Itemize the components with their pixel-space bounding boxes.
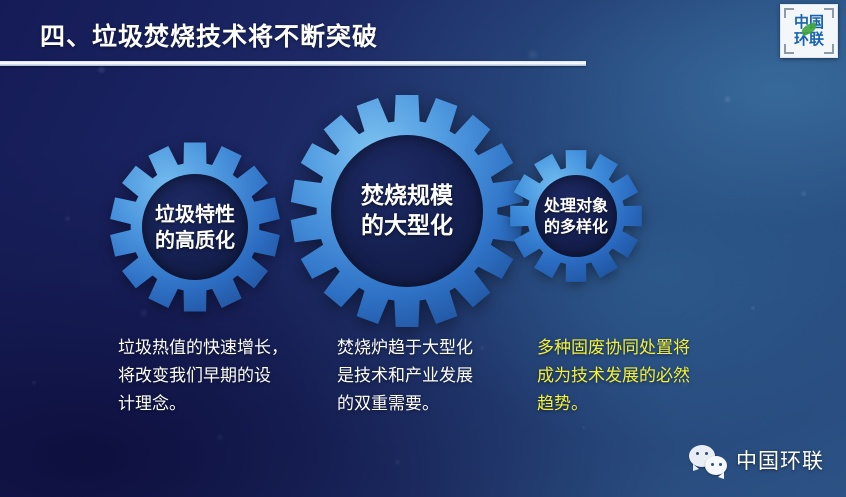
gear-scale: 焚烧规模 的大型化 (288, 92, 526, 330)
caption-diversity: 多种固废协同处置将 成为技术发展的必然 趋势。 (537, 334, 727, 418)
caption-scale-line2: 是技术和产业发展 (337, 362, 527, 390)
logo-corner-top-left (784, 8, 794, 18)
wechat-dot-3 (711, 463, 714, 466)
logo-corner-top-right (824, 8, 834, 18)
caption-quality: 垃圾热值的快速增长， 将改变我们早期的设 计理念。 (118, 334, 323, 418)
caption-diversity-line2: 成为技术发展的必然 (537, 362, 727, 390)
caption-quality-line3: 计理念。 (118, 390, 323, 418)
caption-quality-line2: 将改变我们早期的设 (118, 362, 323, 390)
caption-scale-line1: 焚烧炉趋于大型化 (337, 334, 527, 362)
logo-corner-bottom-right (824, 44, 834, 54)
gear-scale-label-line2: 的大型化 (361, 211, 453, 241)
logo-corner-bottom-left (784, 44, 794, 54)
wechat-bubble-small (705, 456, 727, 475)
gear-quality: 垃圾特性 的高质化 (108, 140, 282, 314)
caption-diversity-line3: 趋势。 (537, 390, 727, 418)
gear-diversity-label-line2: 的多样化 (544, 216, 608, 237)
caption-diversity-line1: 多种固废协同处置将 (537, 334, 727, 362)
gear-quality-label-line1: 垃圾特性 (155, 201, 235, 227)
wechat-account-name: 中国环联 (736, 445, 824, 475)
title-underline-rule (0, 61, 586, 66)
caption-scale-line3: 的双重需要。 (337, 390, 527, 418)
wechat-dot-2 (705, 452, 708, 455)
slide-canvas: 四、垃圾焚烧技术将不断突破 中国 环联 垃圾特性 的高质化 (0, 0, 846, 497)
wechat-watermark: 中国环联 (689, 445, 824, 475)
gear-diversity: 处理对象 的多样化 (508, 148, 644, 284)
gear-scale-hub: 焚烧规模 的大型化 (331, 135, 483, 287)
gear-diversity-label-line1: 处理对象 (544, 195, 608, 216)
brand-logo: 中国 环联 (780, 4, 838, 58)
caption-scale: 焚烧炉趋于大型化 是技术和产业发展 的双重需要。 (337, 334, 527, 418)
wechat-dot-1 (696, 452, 699, 455)
wechat-dot-4 (719, 463, 722, 466)
page-title: 四、垃圾焚烧技术将不断突破 (40, 17, 378, 53)
caption-quality-line1: 垃圾热值的快速增长， (118, 334, 323, 362)
gear-quality-label-line2: 的高质化 (155, 227, 235, 253)
gear-scale-label-line1: 焚烧规模 (361, 181, 453, 211)
wechat-icon (689, 445, 727, 475)
gear-quality-hub: 垃圾特性 的高质化 (142, 174, 248, 280)
gear-diversity-hub: 处理对象 的多样化 (535, 175, 617, 257)
